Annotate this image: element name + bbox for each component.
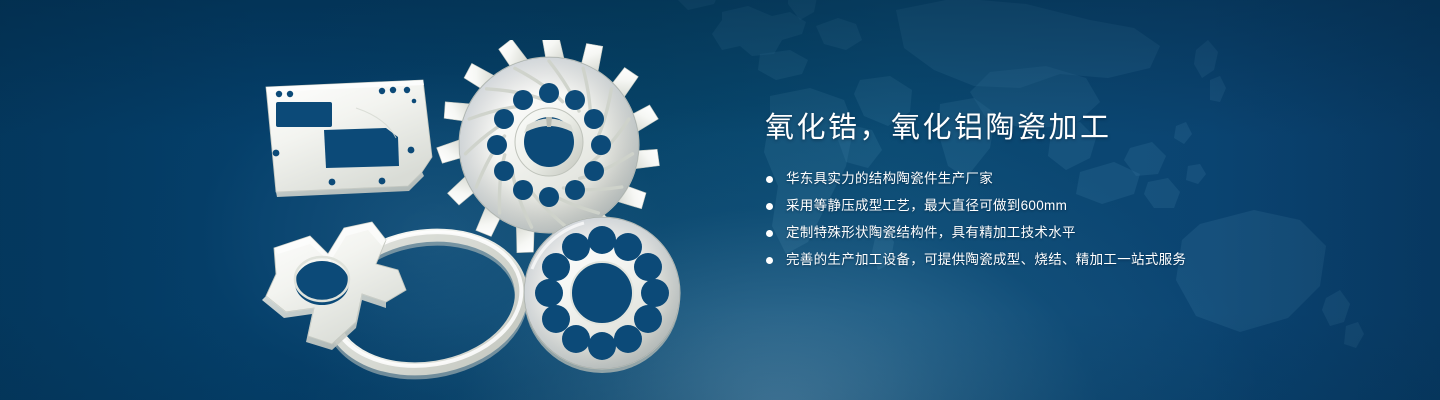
bullet-dot-icon	[766, 230, 773, 237]
promo-banner: 氧化锆，氧化铝陶瓷加工 华东具实力的结构陶瓷件生产厂家 采用等静压成型工艺，最大…	[0, 0, 1440, 400]
ceramic-flat-plate	[266, 80, 432, 197]
list-item-label: 华东具实力的结构陶瓷件生产厂家	[786, 168, 993, 190]
list-item: 华东具实力的结构陶瓷件生产厂家	[765, 168, 1385, 190]
list-item: 定制特殊形状陶瓷结构件，具有精加工技术水平	[765, 222, 1385, 244]
bullet-dot-icon	[766, 176, 773, 183]
product-collage	[236, 40, 706, 390]
ceramic-cross-plate	[262, 222, 406, 350]
bullet-dot-icon	[766, 203, 773, 210]
list-item-label: 完善的生产加工设备，可提供陶瓷成型、烧结、精加工一站式服务	[786, 249, 1186, 271]
banner-copy: 氧化锆，氧化铝陶瓷加工 华东具实力的结构陶瓷件生产厂家 采用等静压成型工艺，最大…	[765, 108, 1385, 276]
list-item-label: 采用等静压成型工艺，最大直径可做到600mm	[786, 195, 1067, 217]
feature-list: 华东具实力的结构陶瓷件生产厂家 采用等静压成型工艺，最大直径可做到600mm 定…	[765, 168, 1385, 271]
list-item: 完善的生产加工设备，可提供陶瓷成型、烧结、精加工一站式服务	[765, 249, 1385, 271]
list-item-label: 定制特殊形状陶瓷结构件，具有精加工技术水平	[786, 222, 1076, 244]
banner-title: 氧化锆，氧化铝陶瓷加工	[765, 108, 1385, 148]
bullet-dot-icon	[766, 257, 773, 264]
list-item: 采用等静压成型工艺，最大直径可做到600mm	[765, 195, 1385, 217]
ceramic-hole-ring-plate	[524, 217, 680, 373]
